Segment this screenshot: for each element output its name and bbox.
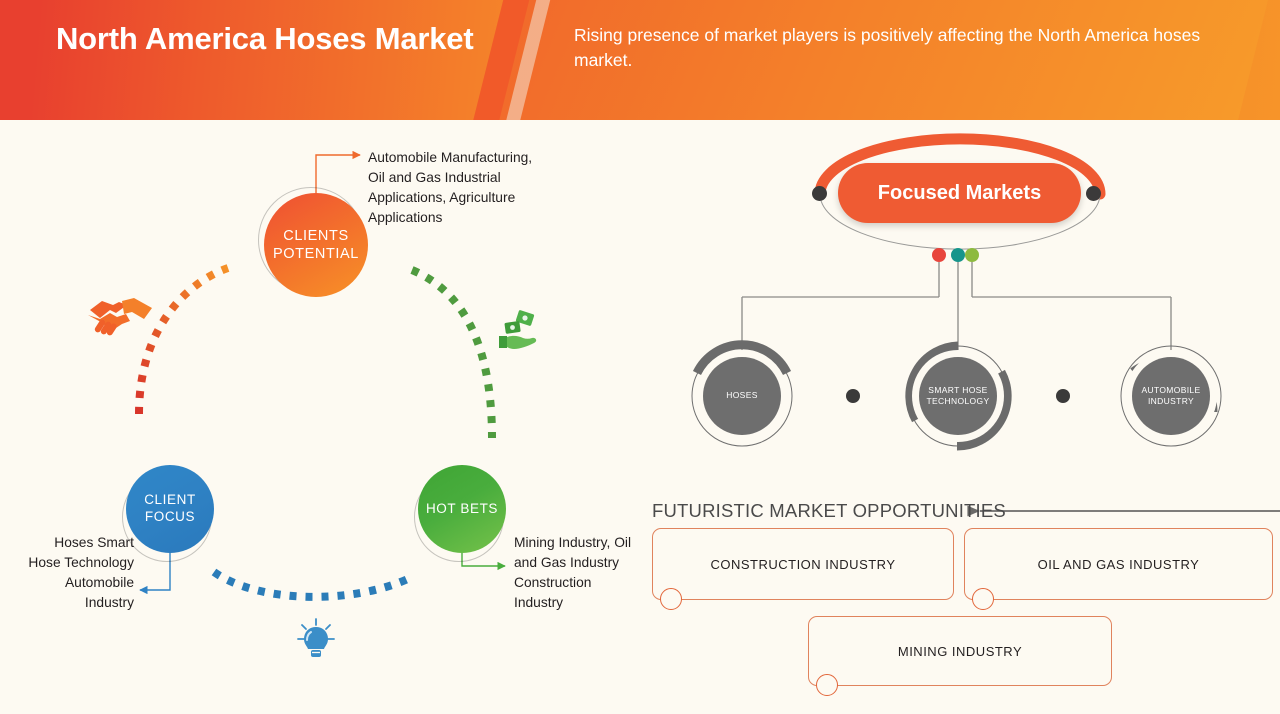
- infographic-slide: North America Hoses Market Rising presen…: [0, 0, 1280, 714]
- note-client-focus: Hoses Smart Hose Technology Automobile I…: [28, 533, 134, 613]
- lightbulb-icon: [292, 616, 340, 664]
- pill-endpoint-dot-right: [1086, 186, 1101, 201]
- header-subtitle: Rising presence of market players is pos…: [574, 23, 1244, 74]
- connector-dot-teal: [951, 248, 965, 262]
- money-in-hand-icon: [495, 308, 543, 356]
- opportunity-knob-mining: [816, 674, 838, 696]
- page-title: North America Hoses Market: [56, 18, 476, 60]
- market-circle-hoses[interactable]: HOSES: [703, 357, 781, 435]
- node-client-focus-label: CLIENT FOCUS: [126, 492, 214, 526]
- node-hot-bets[interactable]: HOT BETS: [418, 465, 506, 553]
- opportunity-box-mining[interactable]: MINING INDUSTRY: [808, 616, 1112, 686]
- opportunity-box-oil-and-gas-label: OIL AND GAS INDUSTRY: [1038, 557, 1200, 572]
- opportunity-box-oil-and-gas[interactable]: OIL AND GAS INDUSTRY: [964, 528, 1273, 600]
- opportunity-box-mining-label: MINING INDUSTRY: [898, 644, 1022, 659]
- opportunity-box-construction[interactable]: CONSTRUCTION INDUSTRY: [652, 528, 954, 600]
- connector-dot-red: [932, 248, 946, 262]
- market-circle-smart-hose-technology[interactable]: SMART HOSE TECHNOLOGY: [919, 357, 997, 435]
- node-client-focus[interactable]: CLIENT FOCUS: [126, 465, 214, 553]
- focused-markets-label: Focused Markets: [878, 182, 1041, 205]
- market-circle-smart-hose-technology-label: SMART HOSE TECHNOLOGY: [919, 385, 997, 408]
- separator-dot-left: [846, 389, 860, 403]
- market-circle-automobile-industry[interactable]: AUTOMOBILE INDUSTRY: [1132, 357, 1210, 435]
- focused-markets-pill[interactable]: Focused Markets: [838, 163, 1081, 223]
- market-circle-hoses-label: HOSES: [726, 390, 758, 401]
- node-clients-potential[interactable]: CLIENTS POTENTIAL: [264, 193, 368, 297]
- separator-dot-right: [1056, 389, 1070, 403]
- opportunity-box-construction-label: CONSTRUCTION INDUSTRY: [710, 557, 895, 572]
- market-circle-automobile-industry-label: AUTOMOBILE INDUSTRY: [1132, 385, 1210, 408]
- opportunity-knob-construction: [660, 588, 682, 610]
- node-clients-potential-label: CLIENTS POTENTIAL: [264, 227, 368, 263]
- opportunity-knob-oil-and-gas: [972, 588, 994, 610]
- connector-dot-green: [965, 248, 979, 262]
- note-clients-potential: Automobile Manufacturing, Oil and Gas In…: [368, 148, 548, 228]
- node-hot-bets-label: HOT BETS: [426, 501, 498, 518]
- futuristic-section-title: FUTURISTIC MARKET OPPORTUNITIES: [652, 500, 1006, 522]
- pill-endpoint-dot-left: [812, 186, 827, 201]
- note-hot-bets: Mining Industry, Oil and Gas Industry Co…: [514, 533, 639, 613]
- handshake-icon: [86, 288, 158, 344]
